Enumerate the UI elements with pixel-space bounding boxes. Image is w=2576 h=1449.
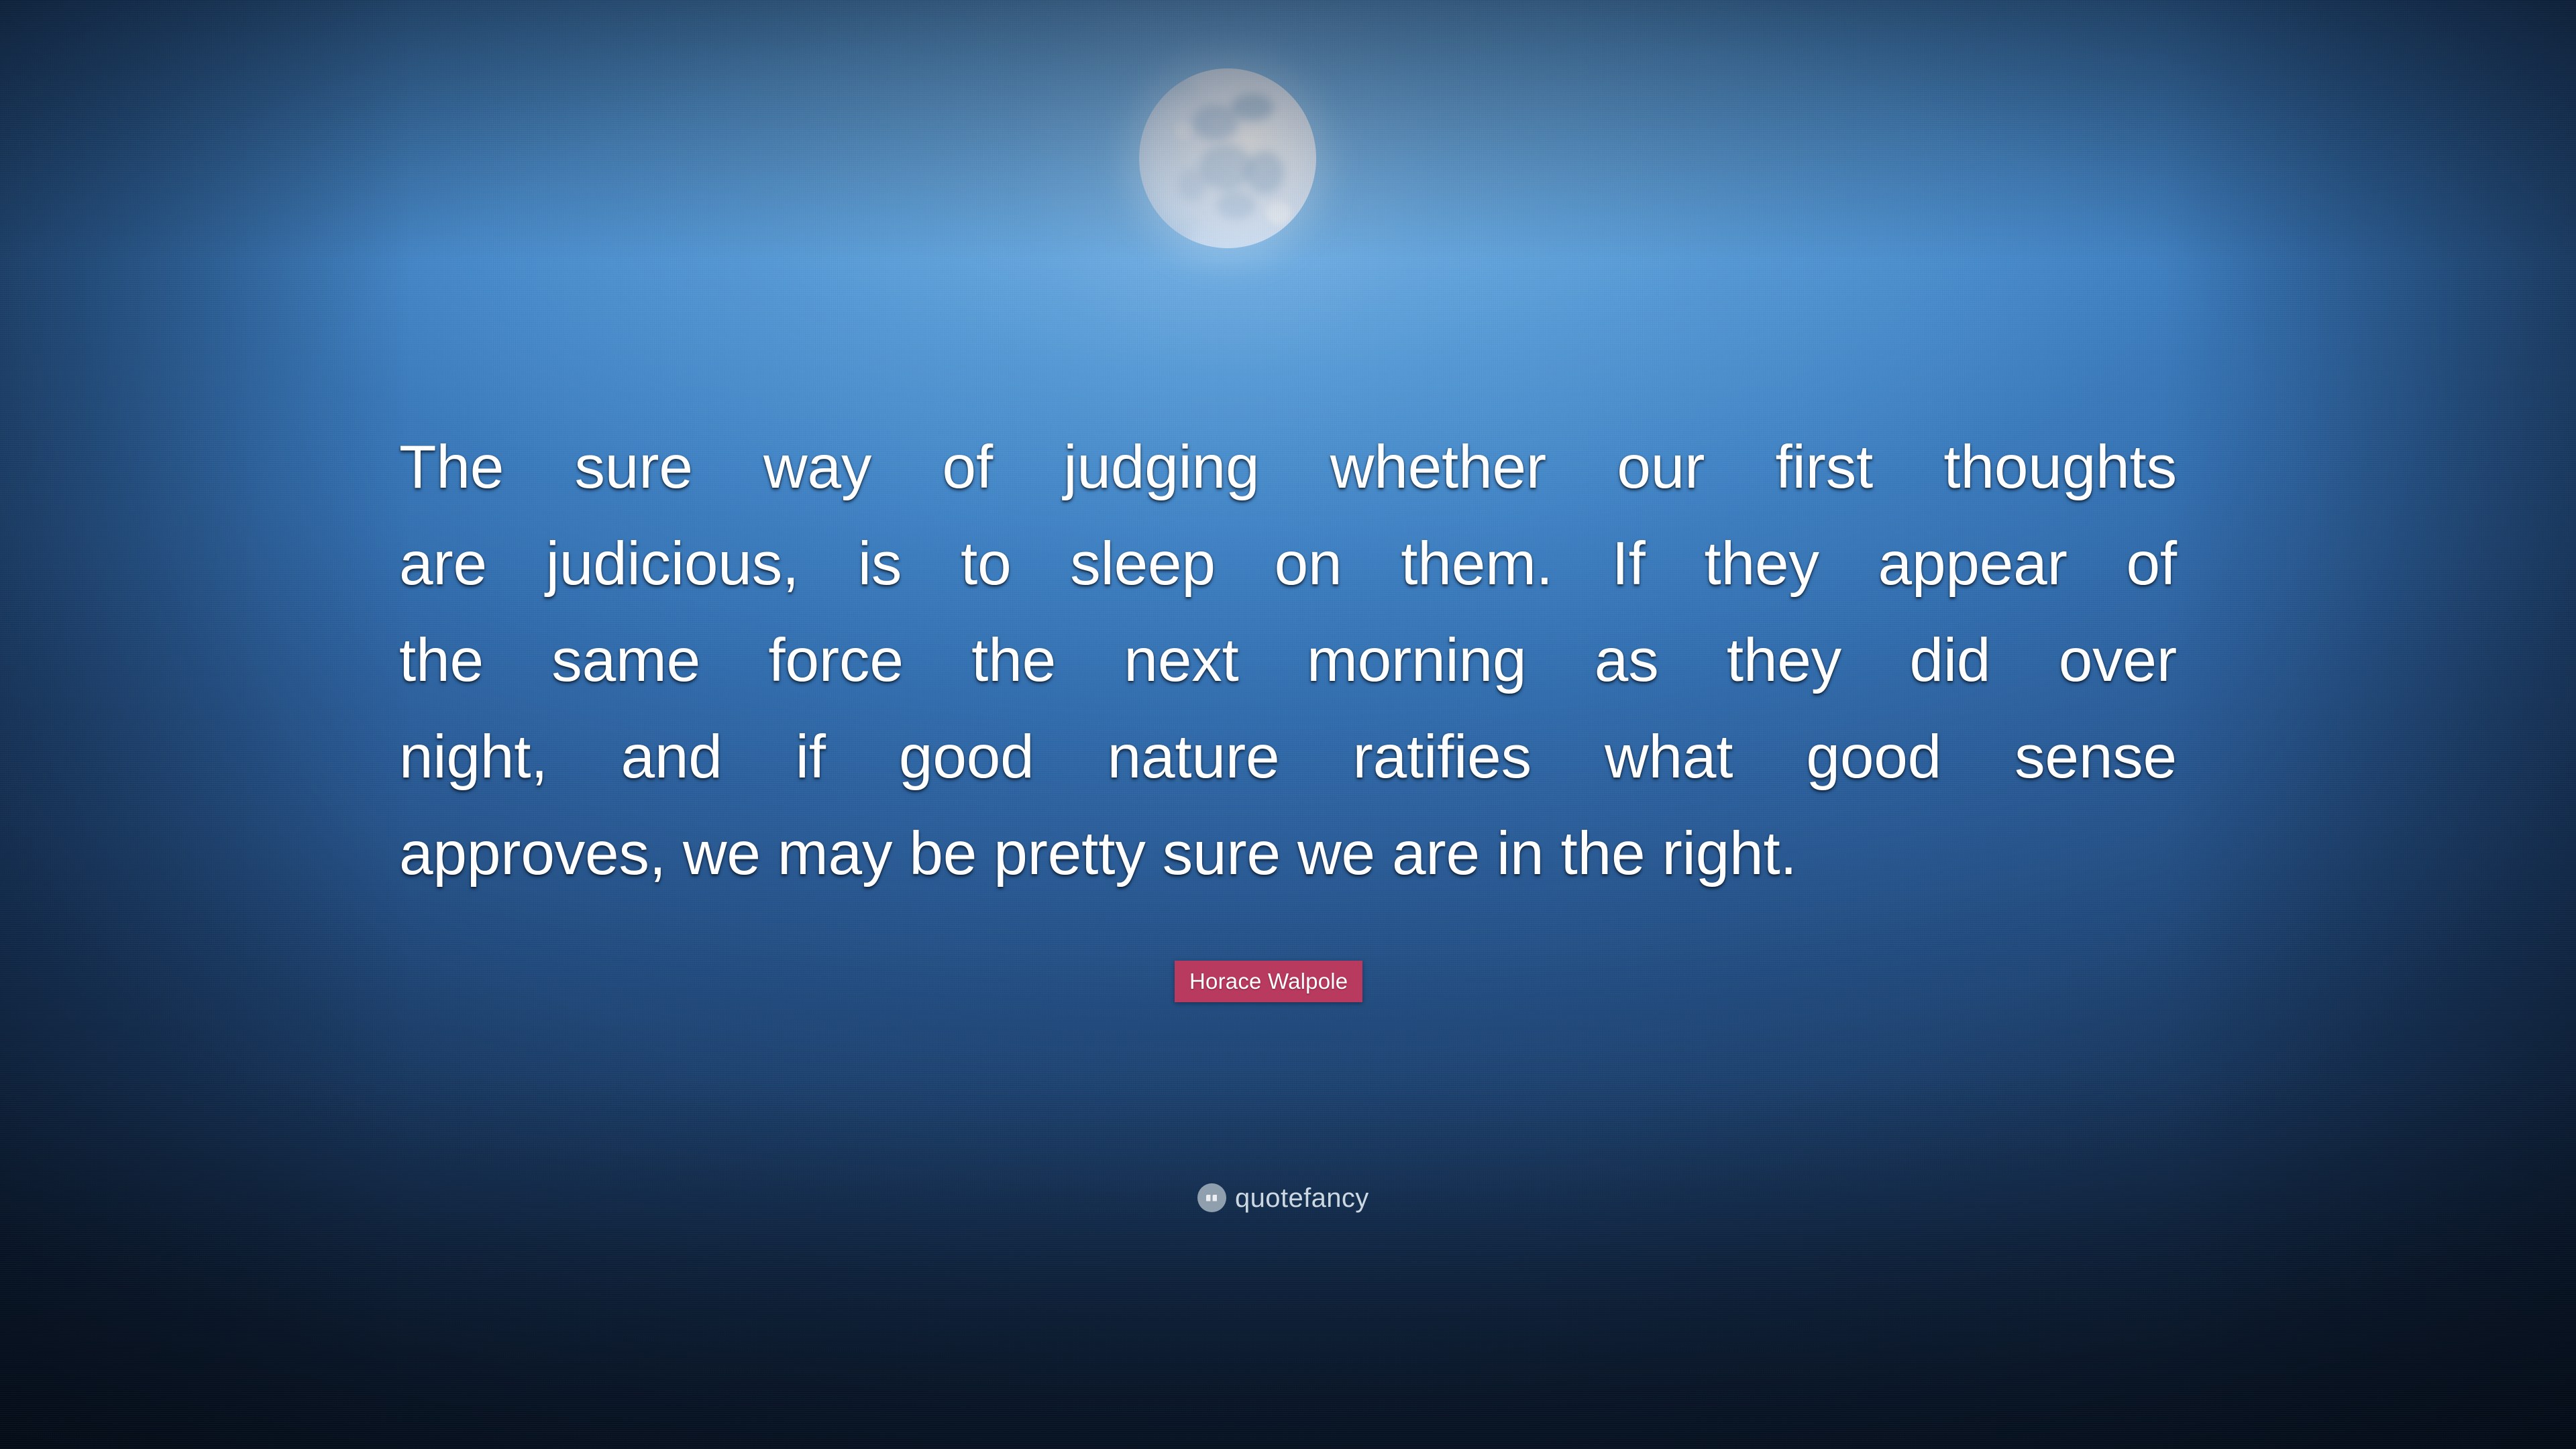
quote-word: morning xyxy=(1307,612,1526,709)
quote-word: of xyxy=(2126,516,2177,612)
quote-word: good xyxy=(899,709,1034,806)
quote-line: Thesurewayofjudgingwhetherourfirstthough… xyxy=(399,419,2177,516)
quote-word: did xyxy=(1909,612,1990,709)
quote-line: arejudicious,istosleeponthem.Iftheyappea… xyxy=(399,516,2177,612)
quote-word: next xyxy=(1124,612,1238,709)
quote-text: Thesurewayofjudgingwhetherourfirstthough… xyxy=(399,419,2177,902)
quote-line: approves, we may be pretty sure we are i… xyxy=(399,806,2177,902)
quote-word: they xyxy=(1705,516,1819,612)
quote-word: same xyxy=(551,612,700,709)
quote-word: appear xyxy=(1878,516,2068,612)
quote-word: If xyxy=(1612,516,1646,612)
quote-word: good xyxy=(1806,709,1941,806)
quote-word: over xyxy=(2059,612,2177,709)
quote-word: night, xyxy=(399,709,547,806)
quote-word: of xyxy=(943,419,994,516)
quote-line: thesameforcethenextmorningastheydidover xyxy=(399,612,2177,709)
quote-word: sense xyxy=(2015,709,2177,806)
quote-wallpaper: Thesurewayofjudgingwhetherourfirstthough… xyxy=(0,0,2576,1449)
quote-word: and xyxy=(621,709,722,806)
quote-word: The xyxy=(399,419,504,516)
quote-word: is xyxy=(858,516,902,612)
quote-word: as xyxy=(1595,612,1659,709)
quote-word: the xyxy=(399,612,484,709)
quote-word: them. xyxy=(1401,516,1553,612)
quote-word: they xyxy=(1727,612,1841,709)
quote-word: what xyxy=(1605,709,1733,806)
author-name: Horace Walpole xyxy=(1189,969,1348,994)
quote-word: judicious, xyxy=(546,516,799,612)
quote-word: nature xyxy=(1108,709,1280,806)
quote-word: ratifies xyxy=(1352,709,1531,806)
quote-word: thoughts xyxy=(1943,419,2177,516)
quote-word: to xyxy=(961,516,1012,612)
quote-word: the xyxy=(971,612,1056,709)
quote-word: sleep xyxy=(1070,516,1216,612)
author-badge[interactable]: Horace Walpole xyxy=(1175,961,1362,1002)
quotefancy-brand-text: quotefancy xyxy=(1235,1185,1369,1212)
quote-word: force xyxy=(768,612,903,709)
quote-word: are xyxy=(399,516,487,612)
quote-line: night,andifgoodnatureratifieswhatgoodsen… xyxy=(399,709,2177,806)
quotefancy-watermark[interactable]: quotefancy xyxy=(1197,1183,1369,1212)
quote-word: whether xyxy=(1330,419,1546,516)
quote-word: judging xyxy=(1063,419,1259,516)
quote-word: sure xyxy=(575,419,693,516)
quote-word: way xyxy=(763,419,871,516)
quote-word: if xyxy=(796,709,826,806)
quote-mark-icon xyxy=(1197,1183,1226,1212)
quote-word: first xyxy=(1776,419,1874,516)
quote-word: on xyxy=(1275,516,1342,612)
quote-word: our xyxy=(1617,419,1705,516)
